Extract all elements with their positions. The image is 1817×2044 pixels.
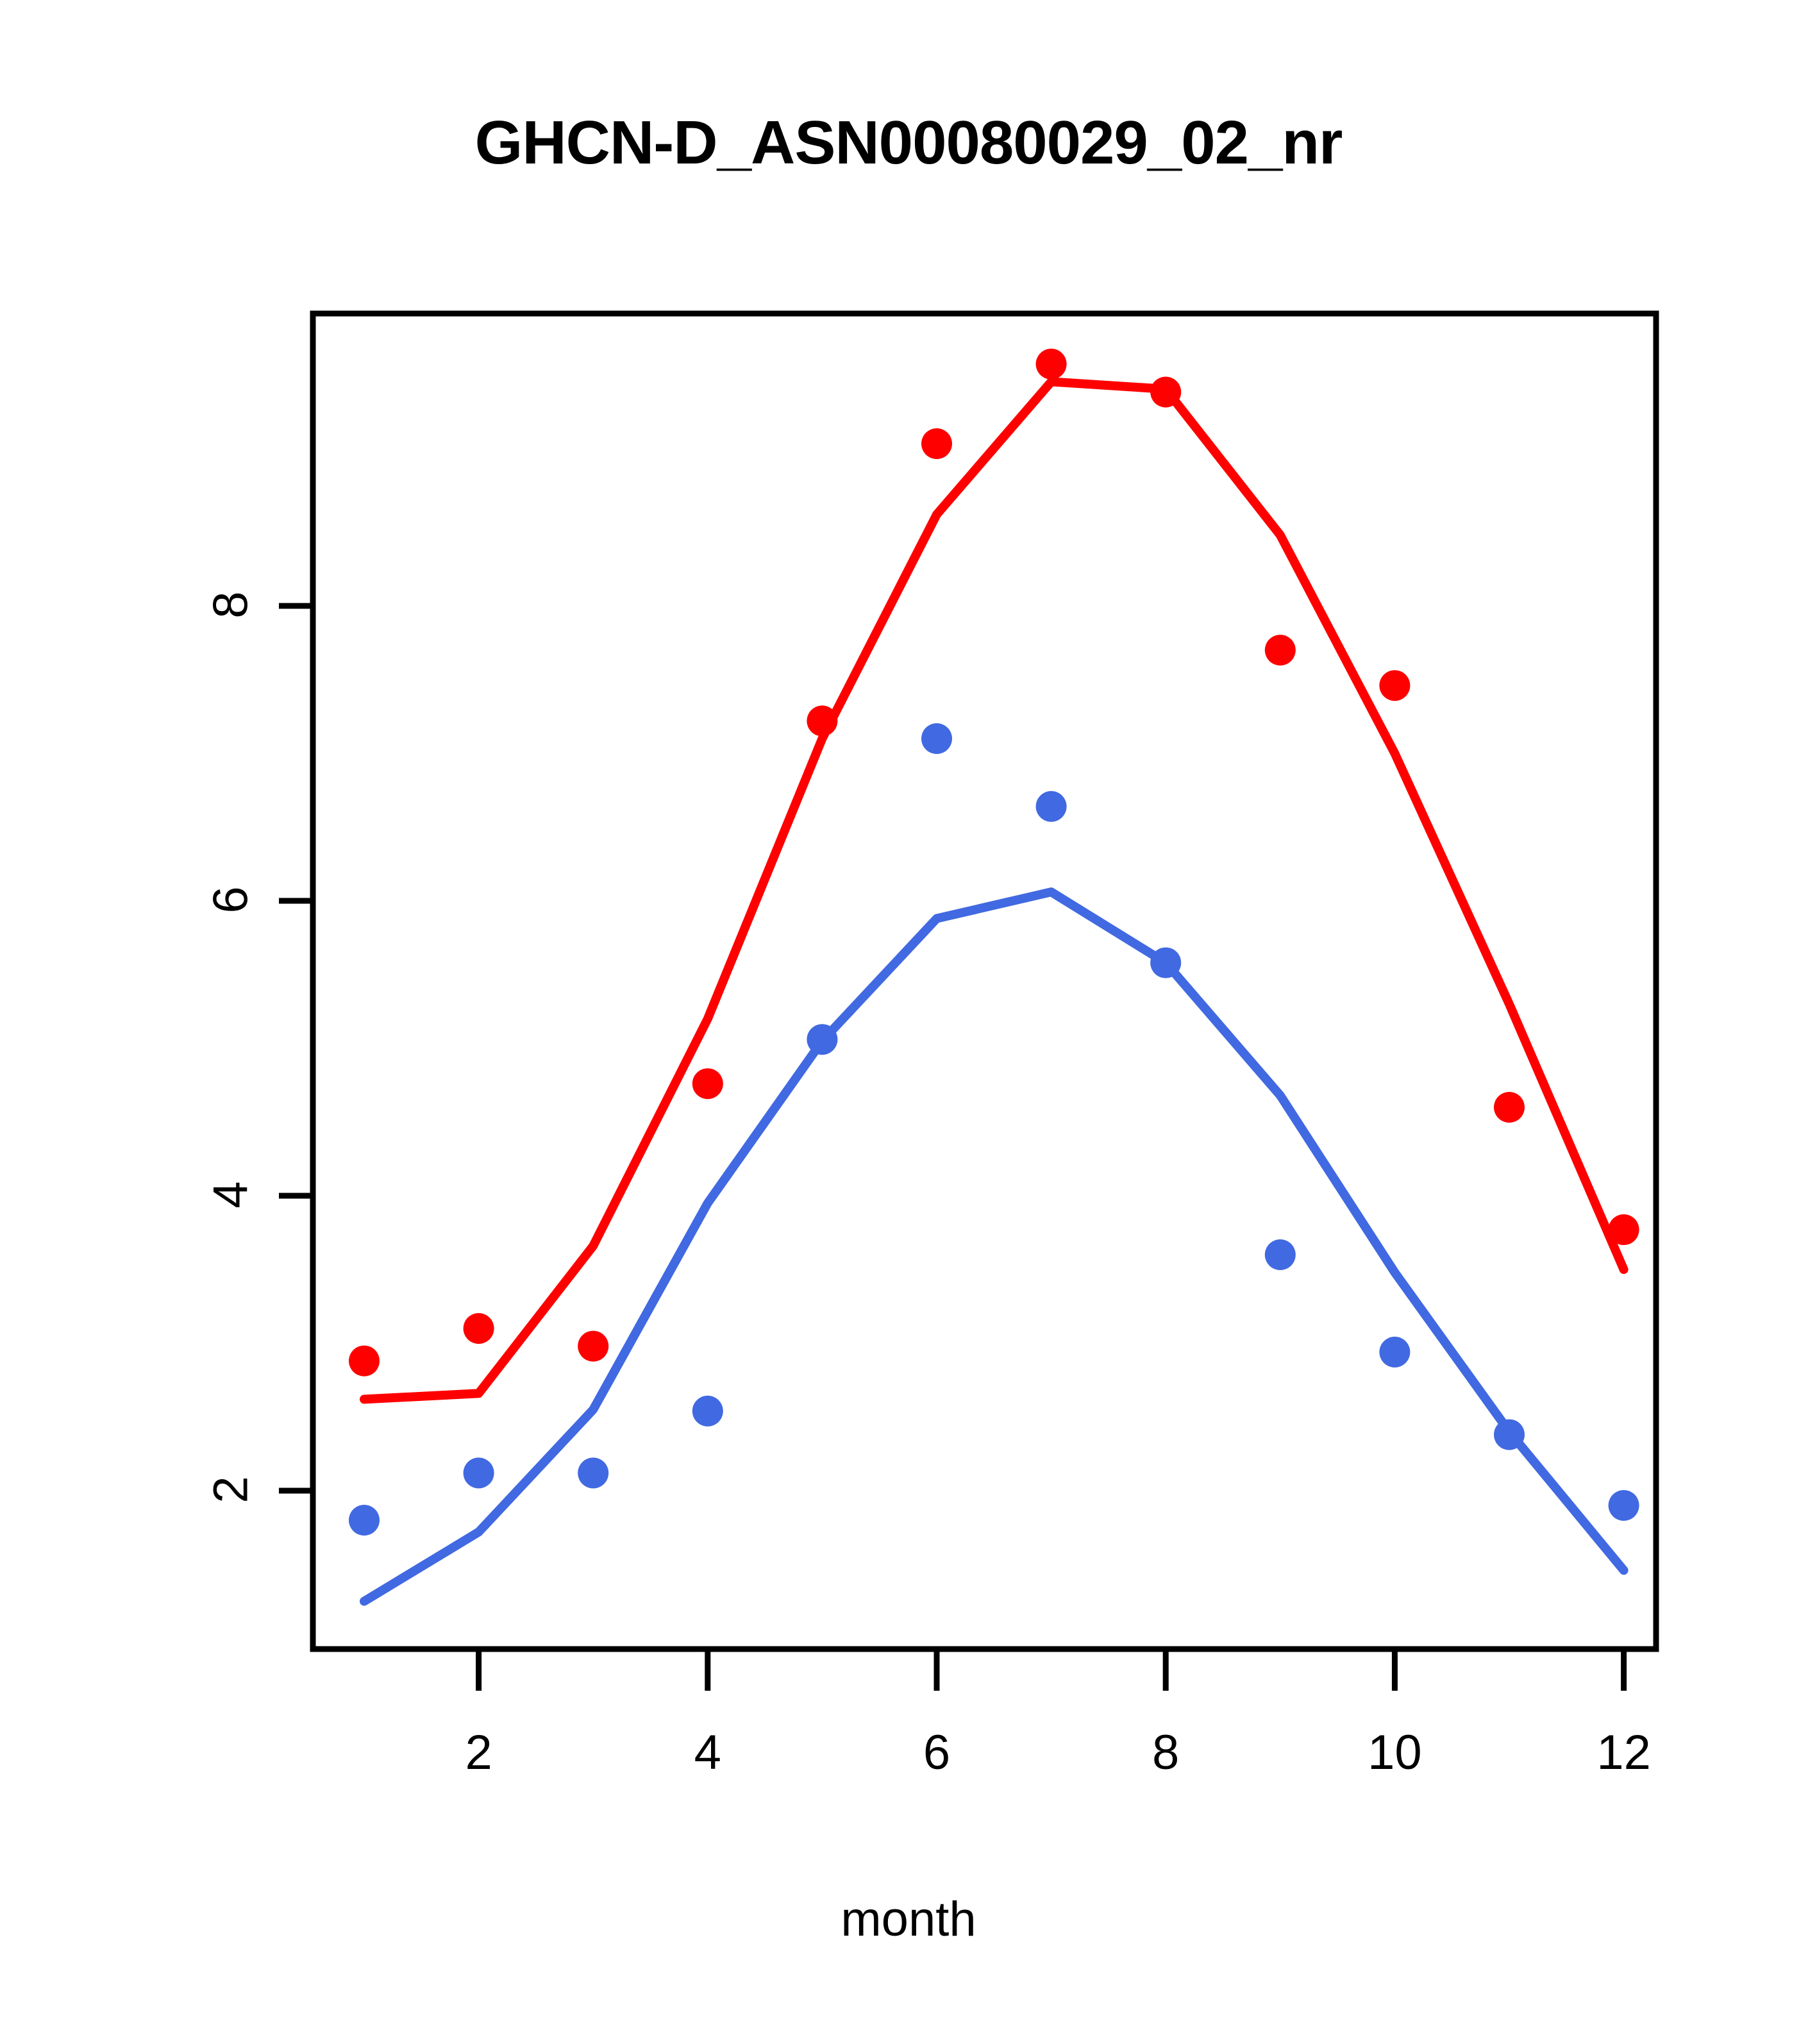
data-point-red-points [1036,349,1067,380]
series-points-group [349,349,1639,1536]
data-point-blue-points [1379,1337,1410,1368]
data-point-blue-points [349,1505,380,1536]
x-axis-ticks [479,1649,1624,1691]
data-point-red-points [692,1068,723,1099]
data-point-red-points [578,1331,608,1362]
data-point-blue-points [921,723,952,754]
x-tick-label: 8 [1101,1725,1230,1780]
data-point-red-points [921,428,952,459]
data-point-red-points [464,1313,494,1344]
data-point-blue-points [1036,791,1067,822]
data-point-red-points [1265,635,1296,666]
series-line-blue-line [364,892,1624,1601]
y-tick-label: 4 [203,1157,259,1234]
data-point-red-points [349,1346,380,1377]
y-tick-label: 6 [203,862,259,939]
data-point-red-points [1150,377,1181,408]
x-axis-label: month [0,1891,1817,1947]
x-tick-label: 2 [415,1725,543,1780]
data-point-blue-points [1265,1239,1296,1270]
data-point-blue-points [1609,1490,1639,1521]
series-line-red-line [364,381,1624,1399]
data-point-blue-points [1150,948,1181,978]
data-point-blue-points [807,1024,837,1055]
data-point-red-points [807,705,837,736]
plot-border [313,314,1656,1649]
data-point-blue-points [578,1457,608,1488]
data-point-blue-points [692,1396,723,1427]
figure-canvas: GHCN-D_ASN00080029_02_nr 2468 24681012 m… [0,0,1817,2044]
x-tick-label: 10 [1330,1725,1459,1780]
x-tick-label: 12 [1560,1725,1688,1780]
series-lines-group [364,381,1624,1601]
y-axis-ticks [279,606,313,1491]
data-point-red-points [1379,670,1410,701]
x-tick-label: 4 [644,1725,772,1780]
data-point-blue-points [1494,1420,1525,1450]
y-tick-label: 8 [203,567,259,644]
data-point-red-points [1494,1092,1525,1123]
y-tick-label: 2 [203,1452,259,1529]
data-point-blue-points [464,1457,494,1488]
x-tick-label: 6 [873,1725,1001,1780]
data-point-red-points [1609,1214,1639,1245]
